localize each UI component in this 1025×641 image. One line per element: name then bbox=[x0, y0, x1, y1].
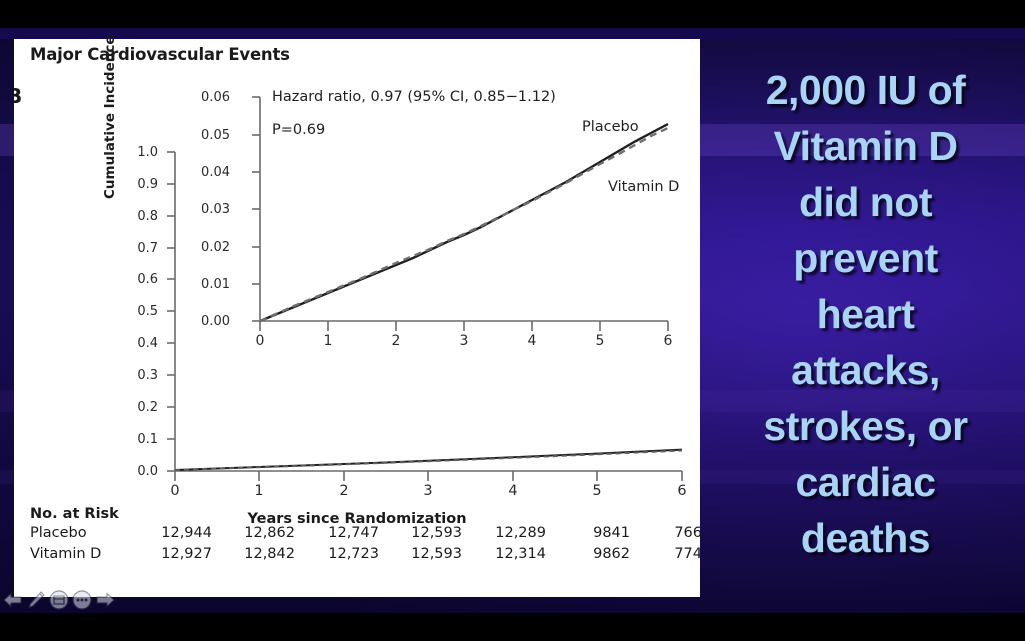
headline-text: 2,000 IU of Vitamin D did not prevent he… bbox=[706, 62, 1025, 566]
inset-y-tick: 0.01 bbox=[182, 277, 230, 292]
main-y-tick: 0.0 bbox=[114, 464, 158, 479]
headline-line: heart bbox=[706, 286, 1025, 342]
main-x-tick: 1 bbox=[245, 483, 273, 499]
slide-top-strip bbox=[0, 28, 1025, 39]
risk-cell: 9841 bbox=[570, 525, 630, 541]
inset-x-tick: 2 bbox=[383, 333, 409, 349]
p-value-annotation: P=0.69 bbox=[272, 122, 325, 138]
main-x-tick: 3 bbox=[414, 483, 442, 499]
risk-row-label: Vitamin D bbox=[30, 546, 101, 562]
main-x-tick: 2 bbox=[330, 483, 358, 499]
inset-y-tick: 0.04 bbox=[182, 165, 230, 180]
risk-cell: 9862 bbox=[570, 546, 630, 562]
pen-tool-button[interactable] bbox=[25, 589, 47, 611]
risk-cell: 12,927 bbox=[152, 546, 212, 562]
risk-cell: 12,842 bbox=[235, 546, 295, 562]
risk-cell: 12,593 bbox=[402, 525, 462, 541]
headline-line: cardiac bbox=[706, 454, 1025, 510]
table-row: Vitamin D 12,927 12,842 12,723 12,593 12… bbox=[30, 546, 690, 567]
main-x-tick: 6 bbox=[668, 483, 696, 499]
inset-curve-placebo bbox=[260, 124, 668, 321]
presenter-toolbar[interactable] bbox=[2, 588, 114, 612]
inset-y-tick: 0.00 bbox=[182, 314, 230, 329]
main-x-tick: 5 bbox=[583, 483, 611, 499]
risk-row-label: Placebo bbox=[30, 525, 87, 541]
inset-y-tick: 0.05 bbox=[182, 128, 230, 143]
inset-y-tick: 0.06 bbox=[182, 90, 230, 105]
inset-y-tick: 0.03 bbox=[182, 202, 230, 217]
inset-x-tick: 6 bbox=[655, 333, 681, 349]
previous-slide-button[interactable] bbox=[2, 589, 24, 611]
no-at-risk-title: No. at Risk bbox=[30, 506, 690, 522]
inset-x-tick: 5 bbox=[587, 333, 613, 349]
inset-x-tick: 0 bbox=[247, 333, 273, 349]
main-x-tick: 4 bbox=[499, 483, 527, 499]
slide-menu-button[interactable] bbox=[48, 589, 70, 611]
risk-cell: 12,862 bbox=[235, 525, 295, 541]
inset-plot: 0.00 0.01 0.02 0.03 0.04 0.05 0.06 0 1 2… bbox=[14, 39, 700, 439]
inset-x-tick: 1 bbox=[315, 333, 341, 349]
inset-x-tick: 4 bbox=[519, 333, 545, 349]
headline-line: strokes, or bbox=[706, 398, 1025, 454]
risk-cell: 12,593 bbox=[402, 546, 462, 562]
risk-cell: 766 bbox=[642, 525, 702, 541]
letterbox-bottom bbox=[0, 613, 1025, 641]
figure-panel: B Major Cardiovascular Events bbox=[14, 39, 700, 597]
headline-line: Vitamin D bbox=[706, 118, 1025, 174]
headline-line: deaths bbox=[706, 510, 1025, 566]
risk-cell: 12,747 bbox=[319, 525, 379, 541]
headline-line: did not bbox=[706, 174, 1025, 230]
risk-cell: 12,944 bbox=[152, 525, 212, 541]
risk-cell: 12,723 bbox=[319, 546, 379, 562]
inset-y-tick: 0.02 bbox=[182, 240, 230, 255]
hazard-ratio-annotation: Hazard ratio, 0.97 (95% CI, 0.85−1.12) bbox=[272, 89, 556, 105]
curve-label-vitamin-d: Vitamin D bbox=[608, 179, 679, 195]
risk-cell: 774 bbox=[642, 546, 702, 562]
risk-cell: 12,314 bbox=[486, 546, 546, 562]
table-row: Placebo 12,944 12,862 12,747 12,593 12,2… bbox=[30, 525, 690, 546]
more-options-button[interactable] bbox=[71, 589, 93, 611]
risk-cell: 12,289 bbox=[486, 525, 546, 541]
main-x-tick: 0 bbox=[161, 483, 189, 499]
curve-label-placebo: Placebo bbox=[582, 119, 639, 135]
letterbox-top bbox=[0, 0, 1025, 28]
headline-line: 2,000 IU of bbox=[706, 62, 1025, 118]
no-at-risk-table: No. at Risk Placebo 12,944 12,862 12,747… bbox=[30, 506, 690, 567]
slideshow-stage: B Major Cardiovascular Events bbox=[0, 0, 1025, 641]
next-slide-button[interactable] bbox=[94, 589, 116, 611]
headline-line: attacks, bbox=[706, 342, 1025, 398]
inset-x-tick: 3 bbox=[451, 333, 477, 349]
headline-line: prevent bbox=[706, 230, 1025, 286]
